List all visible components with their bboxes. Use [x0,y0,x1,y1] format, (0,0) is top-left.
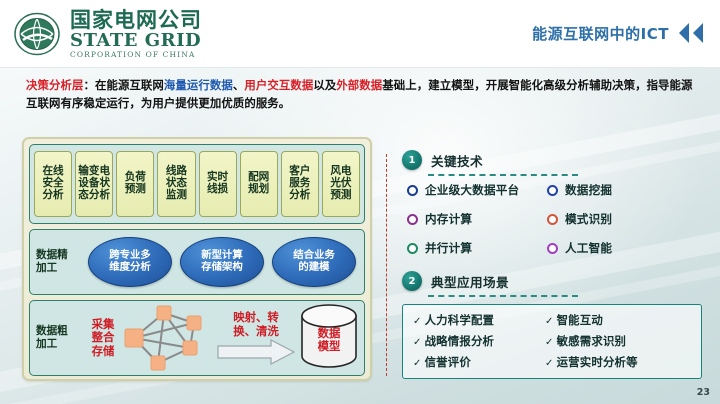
app-box-line2: 规划 [248,184,269,196]
app-box[interactable]: 配网 规划 [240,151,278,217]
section-1-underline [428,174,578,176]
scenario-item[interactable]: ✓ 敏感需求识别 [545,333,693,349]
tech-item[interactable]: 企业级大数据平台 [407,182,547,198]
app-box[interactable]: 实时 线损 [199,151,237,217]
label-line2: 加工 [36,262,57,274]
fine-processing-label: 数据精 加工 [34,249,86,274]
left-architecture-panel: 在线 安全 分析 输变电 设备状 态分析 负荷 预测 [22,137,372,381]
scenario-item[interactable]: ✓ 战略情报分析 [413,333,545,349]
tech-item[interactable]: 模式识别 [547,211,702,227]
logo-english-name: STATE GRID [70,32,202,50]
label-line2: 加工 [36,338,57,350]
scenario-item[interactable]: ✓ 人力科学配置 [413,312,545,328]
app-box[interactable]: 输变电 设备状 态分析 [75,151,113,217]
scenario-label: 战略情报分析 [425,333,495,349]
app-box[interactable]: 线路 状态 监测 [157,151,195,217]
bullet-dot-icon [547,243,558,254]
transform-line2: 换、清洗 [233,324,279,338]
intro-paragraph: 决策分析层：在能源互联网海量运行数据、用户交互数据以及外部数据基础上，建立模型，… [26,76,698,113]
scenario-item[interactable]: ✓ 运营实时分析等 [545,354,693,370]
bullet-dot-icon [407,243,418,254]
tech-label: 模式识别 [565,211,612,227]
key-technology-list: 企业级大数据平台 数据挖掘 内存计算 模式识别 并行计算 人工智能 [407,182,702,256]
bullet-dot-icon [407,185,418,196]
transform-line1: 映射、转 [233,310,279,324]
header-title-group: 能源互联网中的ICT [532,22,706,44]
intro-sep-1: 、 [233,78,245,92]
capability-ellipse[interactable]: 结合业务 的建模 [272,237,356,287]
app-box-line3: 分析 [42,190,63,202]
app-box-line2: 线损 [207,184,228,196]
label-line1: 数据粗 [36,325,68,337]
scenario-label: 敏感需求识别 [557,333,627,349]
intro-text-2: 以及 [313,78,336,92]
section-1-header: 1 关键技术 [402,150,702,170]
check-mark-icon: ✓ [545,316,554,327]
section-2-underline [428,295,578,297]
source-line3: 存储 [92,344,115,358]
tech-label: 并行计算 [425,240,472,256]
coarse-processing-label: 数据粗 加工 [34,325,86,350]
tech-item[interactable]: 并行计算 [407,240,547,256]
source-line1: 采集 [92,317,115,331]
scenario-label: 智能互动 [557,312,603,328]
intro-lead: 决策分析层 [26,78,83,92]
ellipse-line1: 新型计算 [201,249,243,261]
right-arrow-icon [217,339,295,365]
intro-highlight-2: 用户交互数据 [244,78,313,92]
app-box[interactable]: 负荷 预测 [116,151,154,217]
bullet-dot-icon [547,185,558,196]
check-mark-icon: ✓ [545,358,554,369]
vertical-dashed-divider [386,154,387,376]
logo-chinese-name: 国家电网公司 [70,10,202,31]
application-scenarios-box: ✓ 人力科学配置 ✓ 智能互动 ✓ 战略情报分析 ✓ 敏感需求识别 ✓ 信誉评价… [402,304,702,379]
scenario-label: 人力科学配置 [425,312,495,328]
scenario-item[interactable]: ✓ 信誉评价 [413,354,545,370]
section-1-number-badge: 1 [402,150,422,170]
state-grid-emblem-icon [12,10,62,58]
database-cylinder-icon: 数据 模型 [298,303,360,373]
intro-highlight-1: 海量运行数据 [164,78,233,92]
section-1-title: 关键技术 [431,151,483,170]
fine-processing-row: 数据精 加工 跨专业多 维度分析 新型计算 存储架构 [29,229,365,295]
scenario-item[interactable]: ✓ 智能互动 [545,312,693,328]
tech-item[interactable]: 数据挖掘 [547,182,702,198]
app-box-line3: 分析 [289,190,310,202]
app-box[interactable]: 在线 安全 分析 [34,151,72,217]
ellipse-line1: 跨专业多 [109,249,151,261]
app-box-line3: 预测 [330,190,351,202]
tech-item[interactable]: 人工智能 [547,240,702,256]
intro-text-1: 在能源互联网 [95,78,164,92]
app-box-line3: 监测 [166,190,187,202]
source-line2: 整合 [92,330,115,344]
db-line2: 模型 [318,339,341,353]
db-line1: 数据 [318,326,341,340]
check-mark-icon: ✓ [545,337,554,348]
logo-subtitle: CORPORATION OF CHINA [70,51,202,59]
app-box[interactable]: 风电 光伏 预测 [322,151,360,217]
slide-header: 国家电网公司 STATE GRID CORPORATION OF CHINA 能… [0,0,720,68]
app-box-line3: 态分析 [78,190,110,202]
capability-ellipse[interactable]: 跨专业多 维度分析 [88,237,172,287]
section-2-title: 典型应用场景 [431,272,509,291]
bullet-dot-icon [407,214,418,225]
section-2-number-badge: 2 [402,271,422,291]
bullet-dot-icon [547,214,558,225]
slide-canvas: 国家电网公司 STATE GRID CORPORATION OF CHINA 能… [0,0,720,404]
source-label: 采集 整合 存储 [86,318,120,358]
right-info-panel: 1 关键技术 企业级大数据平台 数据挖掘 内存计算 模式识别 [402,150,702,379]
coarse-processing-row: 数据粗 加工 采集 整合 存储 [29,300,365,376]
ellipse-line2: 存储架构 [201,261,243,273]
brand-logo: 国家电网公司 STATE GRID CORPORATION OF CHINA [12,10,202,59]
tech-label: 人工智能 [565,240,612,256]
section-2-header: 2 典型应用场景 [402,271,702,291]
application-row: 在线 安全 分析 输变电 设备状 态分析 负荷 预测 [29,144,365,224]
intro-highlight-3: 外部数据 [336,78,382,92]
tech-label: 企业级大数据平台 [425,182,519,198]
tech-label: 数据挖掘 [565,182,612,198]
check-mark-icon: ✓ [413,358,422,369]
capability-ellipse[interactable]: 新型计算 存储架构 [180,237,264,287]
ellipse-line1: 结合业务 [293,249,335,261]
ellipse-line2: 维度分析 [109,261,151,273]
intro-colon: ： [83,78,95,92]
tech-item[interactable]: 内存计算 [407,211,547,227]
check-mark-icon: ✓ [413,316,422,327]
tech-label: 内存计算 [425,211,472,227]
ellipse-line2: 的建模 [298,261,329,273]
scenario-label: 运营实时分析等 [557,354,638,370]
transform-label: 映射、转 换、清洗 [233,311,279,338]
scenario-label: 信誉评价 [425,354,471,370]
database-label: 数据 模型 [298,327,360,354]
app-box[interactable]: 客户 服务 分析 [281,151,319,217]
page-number: 23 [697,387,710,398]
label-line1: 数据精 [36,249,68,261]
check-mark-icon: ✓ [413,337,422,348]
app-box-line2: 预测 [125,184,146,196]
double-chevron-left-icon [676,22,706,44]
page-title: 能源互联网中的ICT [532,23,669,44]
network-graph-icon [122,304,214,372]
